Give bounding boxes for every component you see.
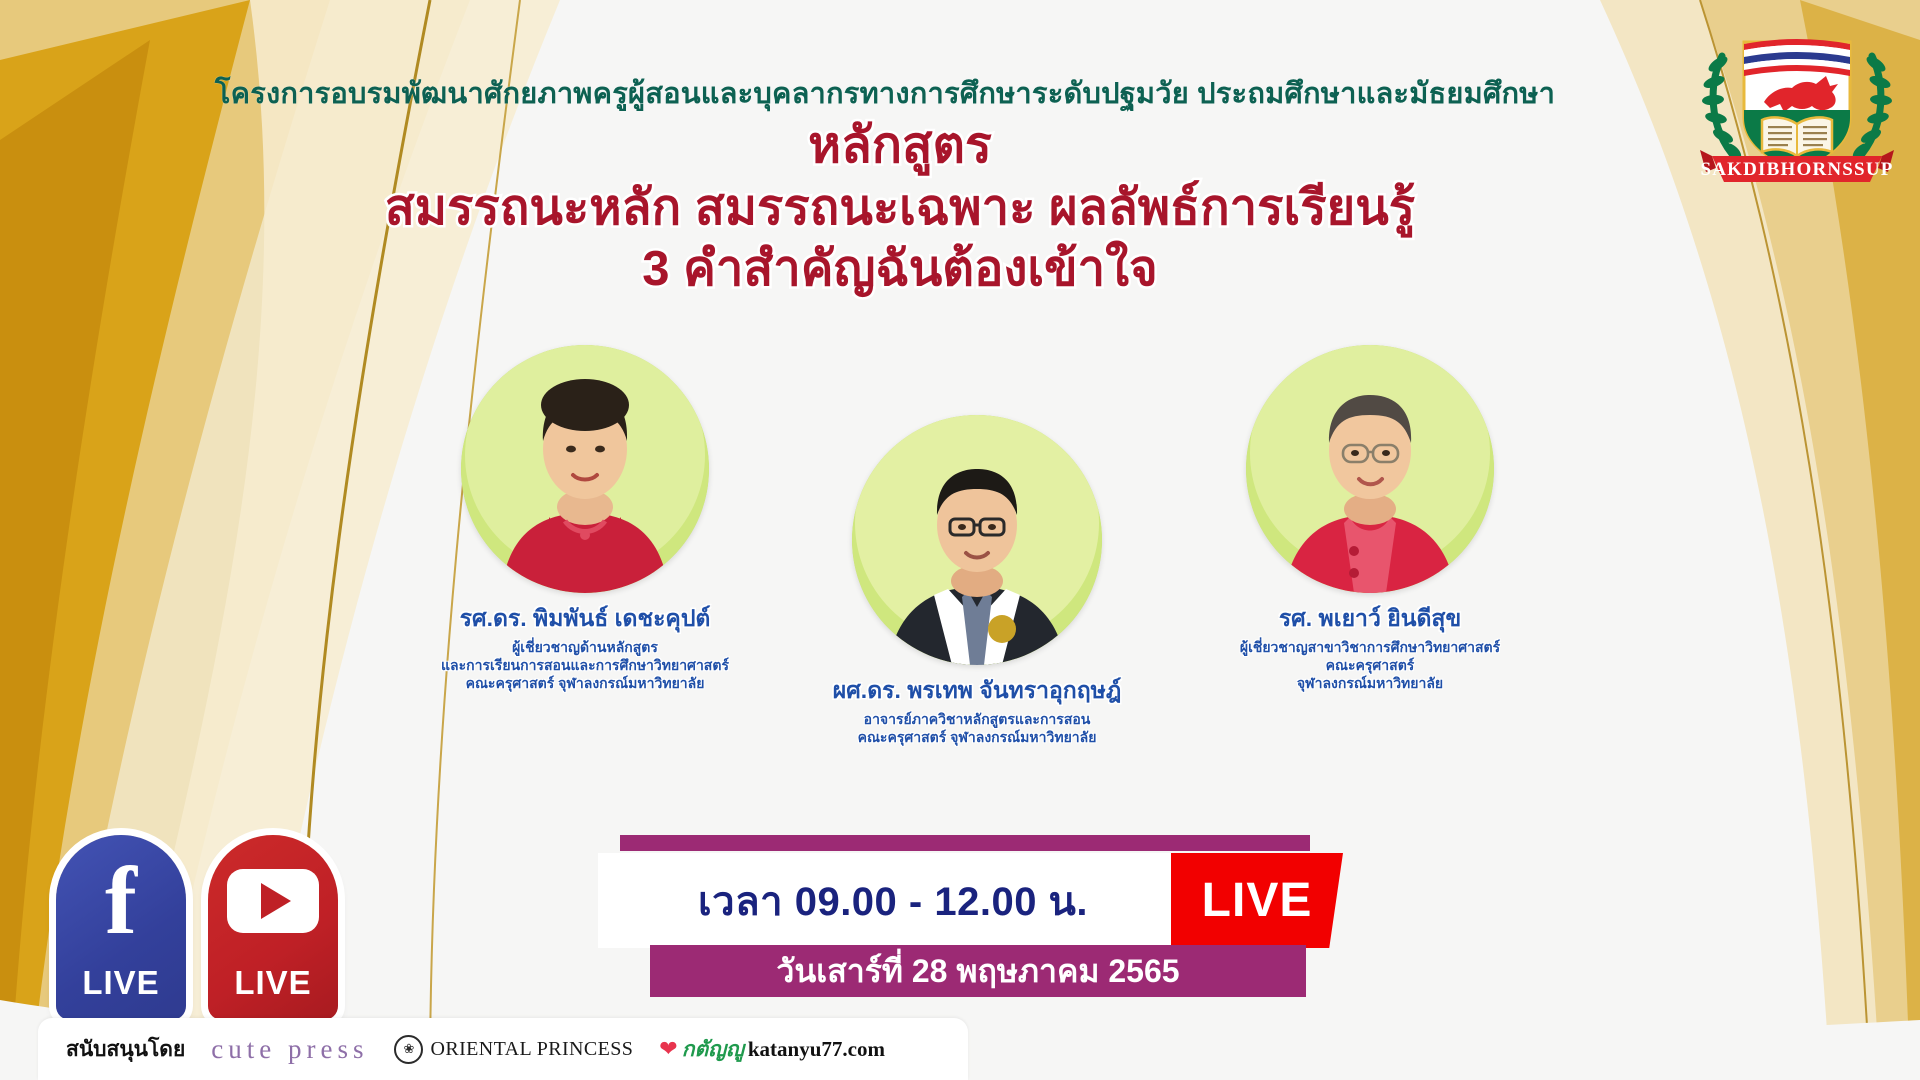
date-text: วันเสาร์ที่ 28 พฤษภาคม 2565 (776, 946, 1179, 997)
time-row: เวลา 09.00 - 12.00 น. (598, 853, 1188, 948)
speaker-card-1: รศ.ดร. พิมพันธ์ เดชะคุปต์ ผู้เชี่ยวชาญด้… (430, 345, 740, 693)
time-text: เวลา 09.00 - 12.00 น. (698, 869, 1088, 933)
speaker-role-line: ผู้เชี่ยวชาญสาขาวิชาการศึกษาวิทยาศาสตร์ (1215, 639, 1525, 657)
speaker-name-1: รศ.ดร. พิมพันธ์ เดชะคุปต์ (430, 601, 740, 637)
title-block: หลักสูตร สมรรถนะหลัก สมรรถนะเฉพาะ ผลลัพธ… (0, 118, 1920, 296)
speaker-name-3: รศ. พเยาว์ ยินดีสุข (1215, 601, 1525, 637)
supported-by-label: สนับสนุนโดย (66, 1033, 185, 1066)
speaker-name-2: ผศ.ดร. พรเทพ จันทราอุกฤษฎ์ (822, 673, 1132, 709)
speaker-portrait-1 (461, 345, 709, 593)
sponsor-footer: สนับสนุนโดย cute press ❀ ORIENTAL PRINCE… (38, 1018, 968, 1080)
poster-canvas: SAKDIBHORNSSUP โครงการอบรมพัฒนาศักยภาพคร… (0, 0, 1920, 1080)
katanyu-url: katanyu77.com (748, 1037, 885, 1062)
speaker-role-line: อาจารย์ภาควิชาหลักสูตรและการสอน (822, 711, 1132, 729)
speaker-card-3: รศ. พเยาว์ ยินดีสุข ผู้เชี่ยวชาญสาขาวิชา… (1215, 345, 1525, 693)
speaker-role-line: จุฬาลงกรณ์มหาวิทยาลัย (1215, 675, 1525, 693)
oriental-princess-label: ORIENTAL PRINCESS (430, 1038, 633, 1061)
live-badge-label: LIVE (1202, 873, 1313, 928)
facebook-live-label: LIVE (82, 964, 159, 1002)
speaker-photo-1 (461, 345, 709, 593)
live-badge: LIVE (1171, 853, 1343, 948)
sponsor-katanyu: ❤ กตัญญู katanyu77.com (659, 1033, 885, 1066)
katanyu-thai-label: กตัญญู (682, 1033, 744, 1066)
title-line-2: สมรรถนะหลัก สมรรถนะเฉพาะ ผลลัพธ์การเรียน… (0, 182, 1800, 235)
social-live-buttons: f LIVE LIVE (56, 835, 338, 1020)
speaker-photo-wrap-3 (1215, 345, 1525, 593)
youtube-icon (227, 869, 319, 933)
speaker-role-3: ผู้เชี่ยวชาญสาขาวิชาการศึกษาวิทยาศาสตร์ … (1215, 639, 1525, 693)
oriental-princess-icon: ❀ (394, 1035, 423, 1064)
speaker-photo-wrap-1 (430, 345, 740, 593)
speaker-role-line: คณะครุศาสตร์ (1215, 657, 1525, 675)
speaker-photo-3 (1246, 345, 1494, 593)
speaker-role-line: และการเรียนการสอนและการศึกษาวิทยาศาสตร์ (430, 657, 740, 675)
heart-icon: ❤ (659, 1036, 677, 1062)
title-line-1: หลักสูตร (0, 118, 1800, 172)
speaker-portrait-3 (1246, 345, 1494, 593)
title-line-3: 3 คำสำคัญฉันต้องเข้าใจ (0, 243, 1800, 296)
banner-top-bar (620, 835, 1310, 851)
sponsor-oriental-princess: ❀ ORIENTAL PRINCESS (394, 1035, 633, 1064)
date-row: วันเสาร์ที่ 28 พฤษภาคม 2565 (650, 945, 1306, 997)
sponsor-cute-press: cute press (211, 1034, 368, 1065)
speaker-card-2: ผศ.ดร. พรเทพ จันทราอุกฤษฎ์ อาจารย์ภาควิช… (822, 415, 1132, 747)
speaker-role-1: ผู้เชี่ยวชาญด้านหลักสูตร และการเรียนการส… (430, 639, 740, 693)
program-header: โครงการอบรมพัฒนาศักยภาพครูผู้สอนและบุคลา… (0, 70, 1920, 116)
speaker-photo-2 (852, 415, 1102, 665)
speaker-role-line: คณะครุศาสตร์ จุฬาลงกรณ์มหาวิทยาลัย (430, 675, 740, 693)
speaker-portrait-2 (852, 415, 1102, 665)
youtube-live-button[interactable]: LIVE (208, 835, 338, 1020)
facebook-live-button[interactable]: f LIVE (56, 835, 186, 1020)
speaker-role-2: อาจารย์ภาควิชาหลักสูตรและการสอน คณะครุศา… (822, 711, 1132, 747)
speaker-photo-wrap-2 (822, 415, 1132, 665)
schedule-banner: เวลา 09.00 - 12.00 น. LIVE วันเสาร์ที่ 2… (598, 835, 1358, 995)
play-triangle-icon (261, 883, 291, 919)
youtube-live-label: LIVE (234, 964, 311, 1002)
facebook-icon: f (105, 855, 137, 946)
speaker-role-line: คณะครุศาสตร์ จุฬาลงกรณ์มหาวิทยาลัย (822, 729, 1132, 747)
speaker-role-line: ผู้เชี่ยวชาญด้านหลักสูตร (430, 639, 740, 657)
